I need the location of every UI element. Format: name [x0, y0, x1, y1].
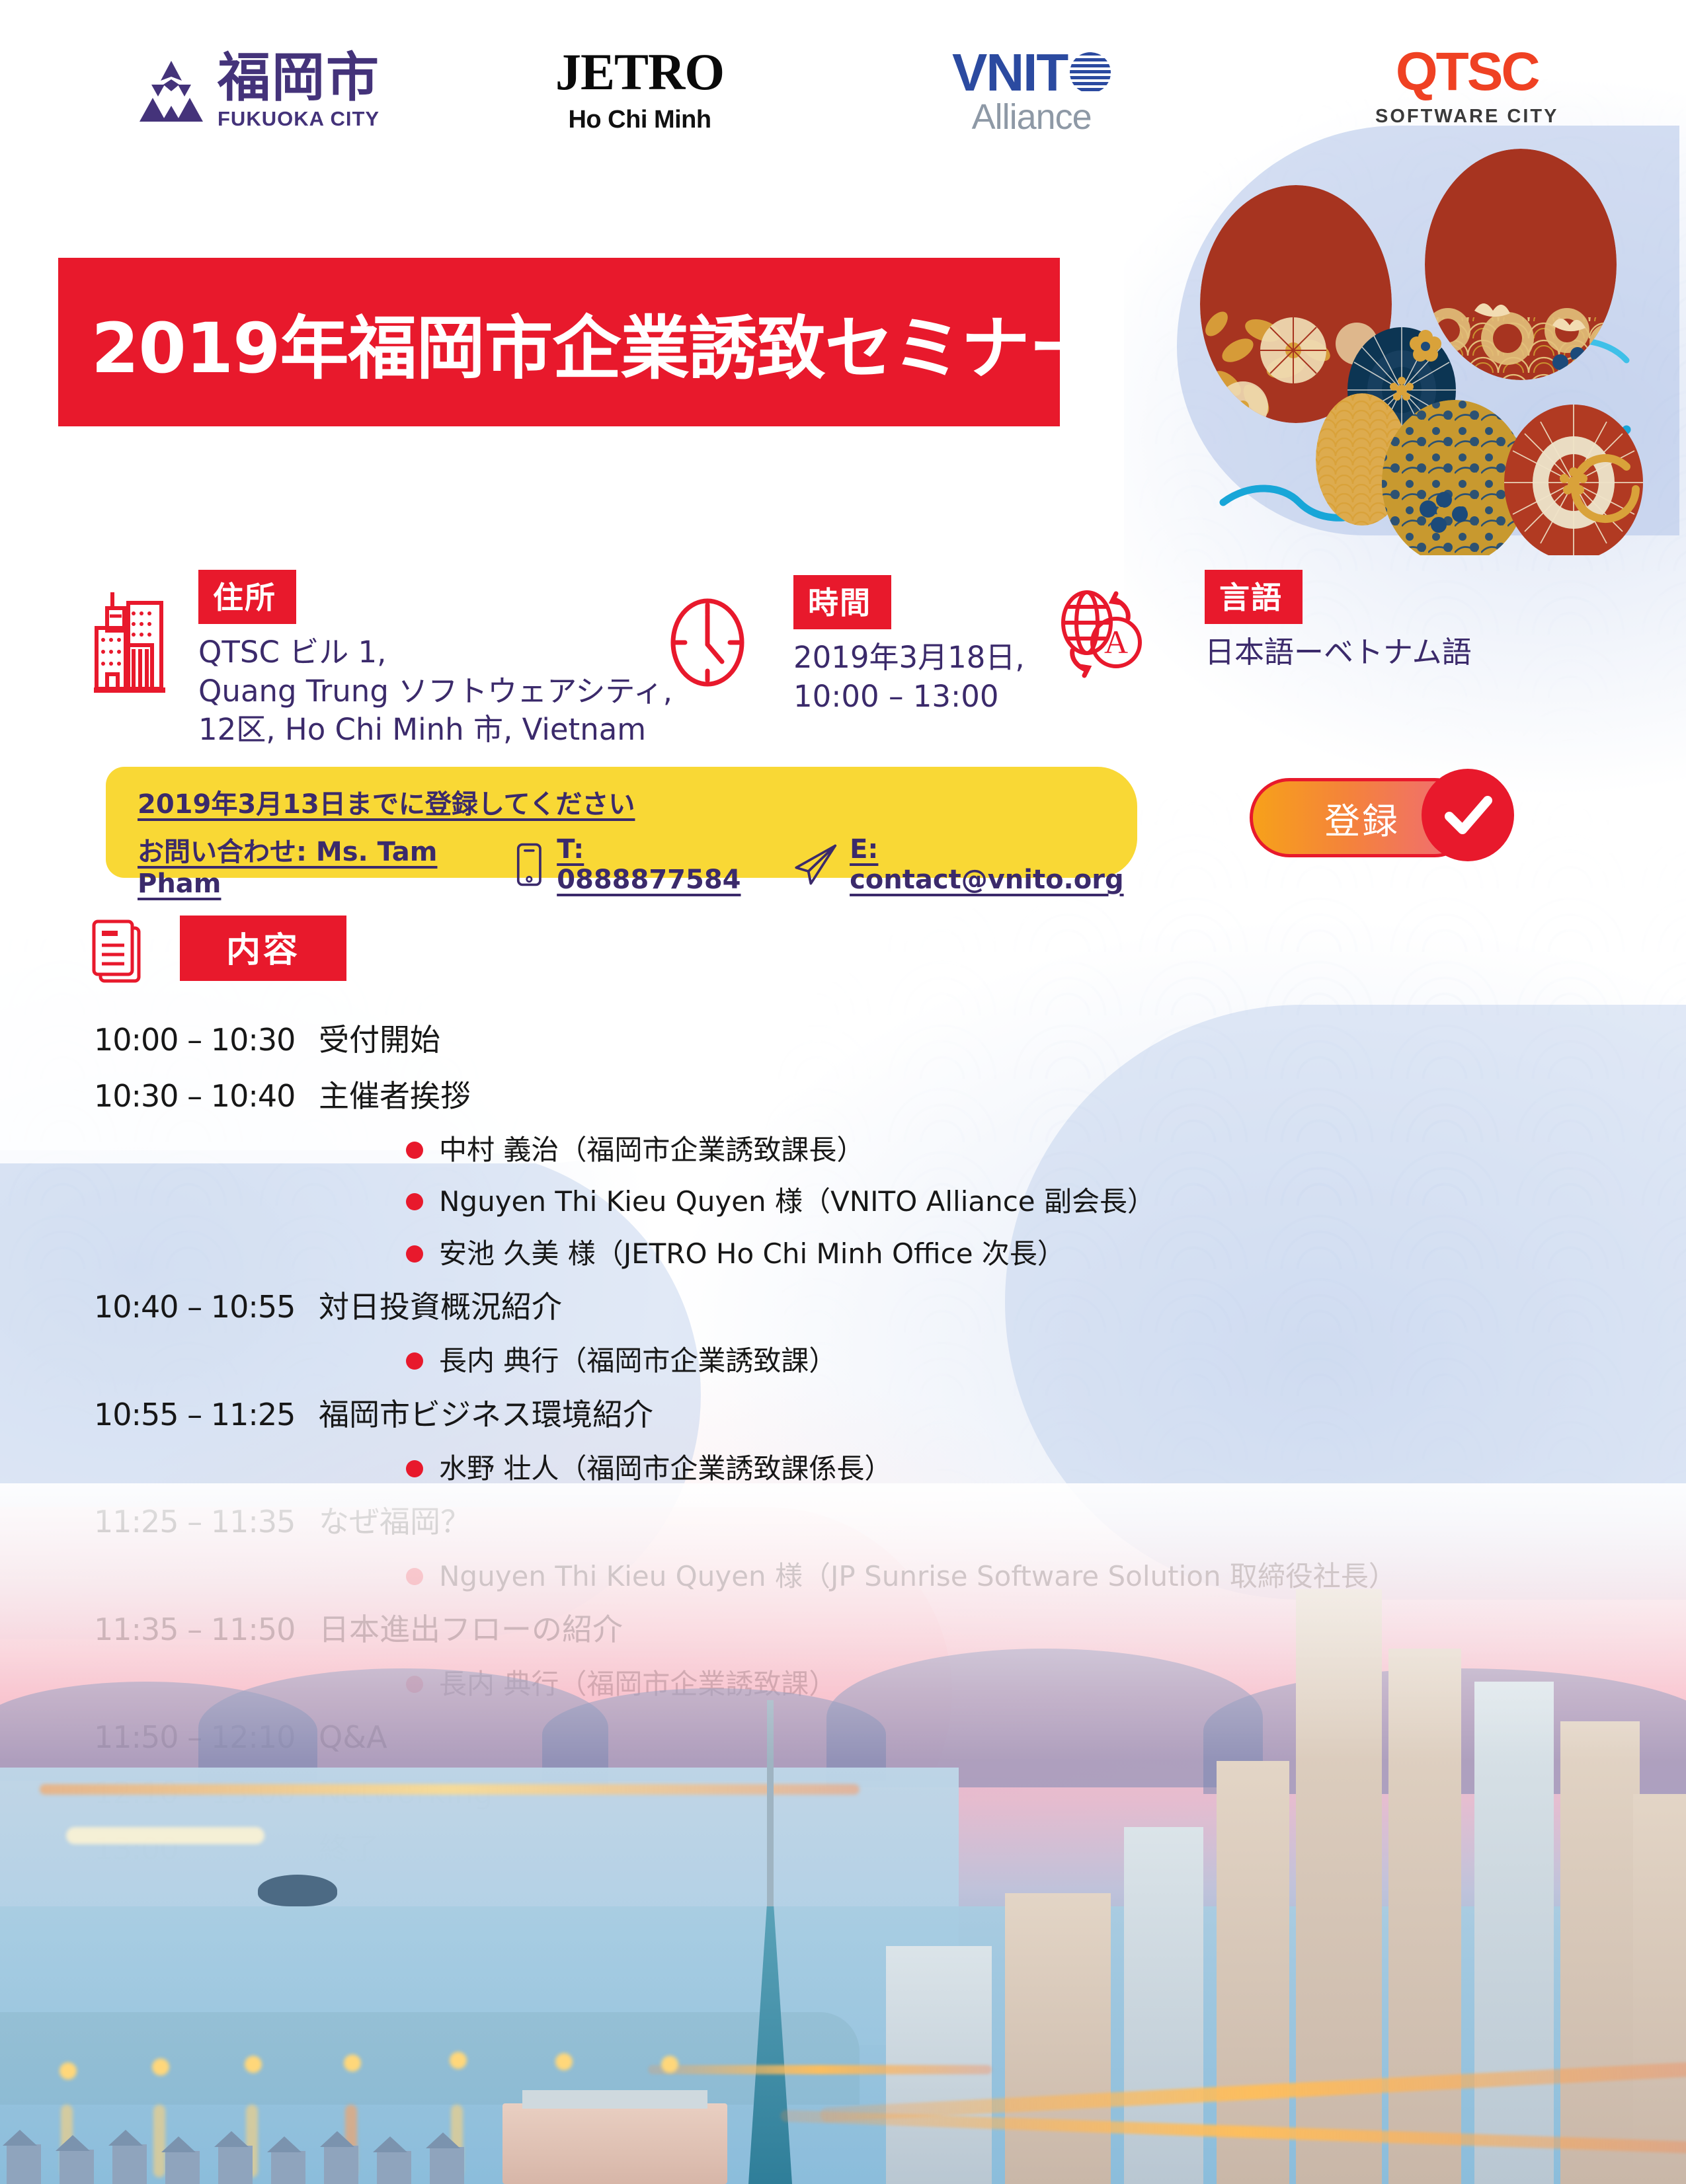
email-address[interactable]: E: contact@vnito.org: [850, 834, 1137, 895]
address-tag: 住所: [198, 570, 296, 624]
speaker-name: 長内 典行（福岡市企業誘致課）: [439, 1346, 836, 1376]
speaker-item: Nguyen Thi Kieu Quyen 様（VNITO Alliance 副…: [406, 1187, 1588, 1217]
bullet-dot-icon: [406, 1142, 423, 1159]
jetro-wordmark: JETRO: [555, 46, 724, 98]
time-tag: 時間: [793, 575, 891, 629]
language-tag: 言語: [1205, 570, 1303, 624]
building-icon: [93, 588, 167, 694]
jetro-office: Ho Chi Minh: [568, 106, 711, 134]
bullet-dot-icon: [406, 1460, 423, 1477]
speaker-name: 中村 義治（福岡市企業誘致課長）: [439, 1135, 864, 1165]
address-line-1: QTSC ビル 1,: [198, 633, 672, 672]
speaker-name: 水野 壮人（福岡市企業誘致課係長）: [439, 1454, 892, 1484]
fukuoka-cityscape-photo: [0, 1483, 1686, 2184]
vnito-wordmark: VNIT: [952, 48, 1067, 98]
bullet-dot-icon: [406, 1352, 423, 1370]
phone-number[interactable]: T: 0888877584: [557, 834, 760, 895]
schedule-time: 10:55 – 11:25: [94, 1398, 319, 1432]
vnito-alliance-text: Alliance: [972, 99, 1092, 135]
speaker-item: 中村 義治（福岡市企業誘致課長）: [406, 1135, 1588, 1165]
phone-icon: [516, 841, 542, 888]
clock-icon: [668, 598, 747, 687]
schedule-row: 10:55 – 11:25 福岡市ビジネス環境紹介: [94, 1398, 1588, 1432]
speaker-name: Nguyen Thi Kieu Quyen 様（VNITO Alliance 副…: [439, 1187, 1155, 1217]
japanese-fan-decoration: [1164, 132, 1686, 555]
language-block: 言語 日本語ーベトナム語: [1205, 570, 1472, 672]
logo-vnito-alliance: VNIT Alliance: [952, 48, 1111, 135]
contents-header-tag: 内容: [180, 916, 346, 981]
schedule-time: 10:00 – 10:30: [94, 1023, 319, 1057]
time-date: 2019年3月18日,: [793, 639, 1025, 678]
schedule-row: 10:00 – 10:30 受付開始: [94, 1023, 1588, 1057]
register-area[interactable]: 登録: [1250, 769, 1527, 872]
fukuoka-crest-icon: [136, 58, 207, 123]
bullet-dot-icon: [406, 1245, 423, 1263]
speaker-item: 水野 壮人（福岡市企業誘致課係長）: [406, 1454, 1588, 1484]
logo-qtsc: QTSC SOFTWARE CITY: [1375, 45, 1558, 128]
logo-fukuoka-city: 福岡市 FUKUOKA CITY: [136, 52, 380, 129]
logo-jetro: JETRO Ho Chi Minh: [555, 46, 724, 134]
qtsc-wordmark: QTSC: [1396, 45, 1539, 99]
logo-row: 福岡市 FUKUOKA CITY JETRO Ho Chi Minh VNIT …: [0, 38, 1686, 144]
qtsc-tagline: SOFTWARE CITY: [1375, 106, 1558, 128]
svg-text:A: A: [1104, 623, 1128, 660]
check-circle-icon: [1422, 769, 1514, 861]
speaker-item: 安池 久美 様（JETRO Ho Chi Minh Office 次長）: [406, 1239, 1588, 1269]
vnito-globe-icon: [1070, 52, 1111, 93]
speaker-name: 安池 久美 様（JETRO Ho Chi Minh Office 次長）: [439, 1239, 1065, 1269]
bullet-dot-icon: [406, 1193, 423, 1210]
schedule-row: 10:40 – 10:55 対日投資概況紹介: [94, 1290, 1588, 1324]
document-icon: [91, 919, 143, 985]
rooftop-building: [502, 2103, 727, 2184]
photo-top-fade: [0, 1483, 1686, 1761]
schedule-title: 福岡市ビジネス環境紹介: [319, 1398, 653, 1432]
title-banner: 2019年福岡市企業誘致セミナー: [58, 258, 1060, 426]
language-value: 日本語ーベトナム語: [1205, 633, 1472, 672]
schedule-title: 対日投資概況紹介: [319, 1290, 562, 1324]
inquiry-contact: お問い合わせ: Ms. Tam Pham: [138, 830, 499, 899]
address-line-2: Quang Trung ソフトウェアシティ,: [198, 672, 672, 711]
seminar-poster: 福岡市 FUKUOKA CITY JETRO Ho Chi Minh VNIT …: [0, 0, 1686, 2184]
schedule-title: 受付開始: [319, 1023, 440, 1057]
poster-title: 2019年福岡市企業誘致セミナー: [58, 292, 1097, 392]
registration-deadline: 2019年3月13日までに登録してください: [138, 783, 635, 821]
contact-banner: 2019年3月13日までに登録してください お問い合わせ: Ms. Tam Ph…: [106, 767, 1137, 878]
schedule-row: 10:30 – 10:40 主催者挨拶: [94, 1079, 1588, 1113]
fukuoka-english: FUKUOKA CITY: [218, 108, 380, 129]
bay-rock: [258, 1875, 337, 1906]
speaker-item: 長内 典行（福岡市企業誘致課）: [406, 1346, 1588, 1376]
globe-translate-icon: A: [1053, 582, 1148, 681]
schedule-title: 主催者挨拶: [319, 1079, 471, 1113]
time-range: 10:00 – 13:00: [793, 678, 1025, 717]
paper-plane-icon: [790, 841, 840, 888]
schedule-time: 10:40 – 10:55: [94, 1290, 319, 1324]
fukuoka-kanji: 福岡市: [218, 52, 380, 104]
address-block: 住所 QTSC ビル 1, Quang Trung ソフトウェアシティ, 12区…: [198, 570, 672, 750]
address-line-3: 12区, Ho Chi Minh 市, Vietnam: [198, 711, 672, 750]
time-block: 時間 2019年3月18日, 10:00 – 13:00: [793, 575, 1025, 716]
ferry-light-trail: [66, 1827, 264, 1844]
schedule-time: 10:30 – 10:40: [94, 1079, 319, 1113]
register-button-label: 登録: [1324, 792, 1400, 844]
